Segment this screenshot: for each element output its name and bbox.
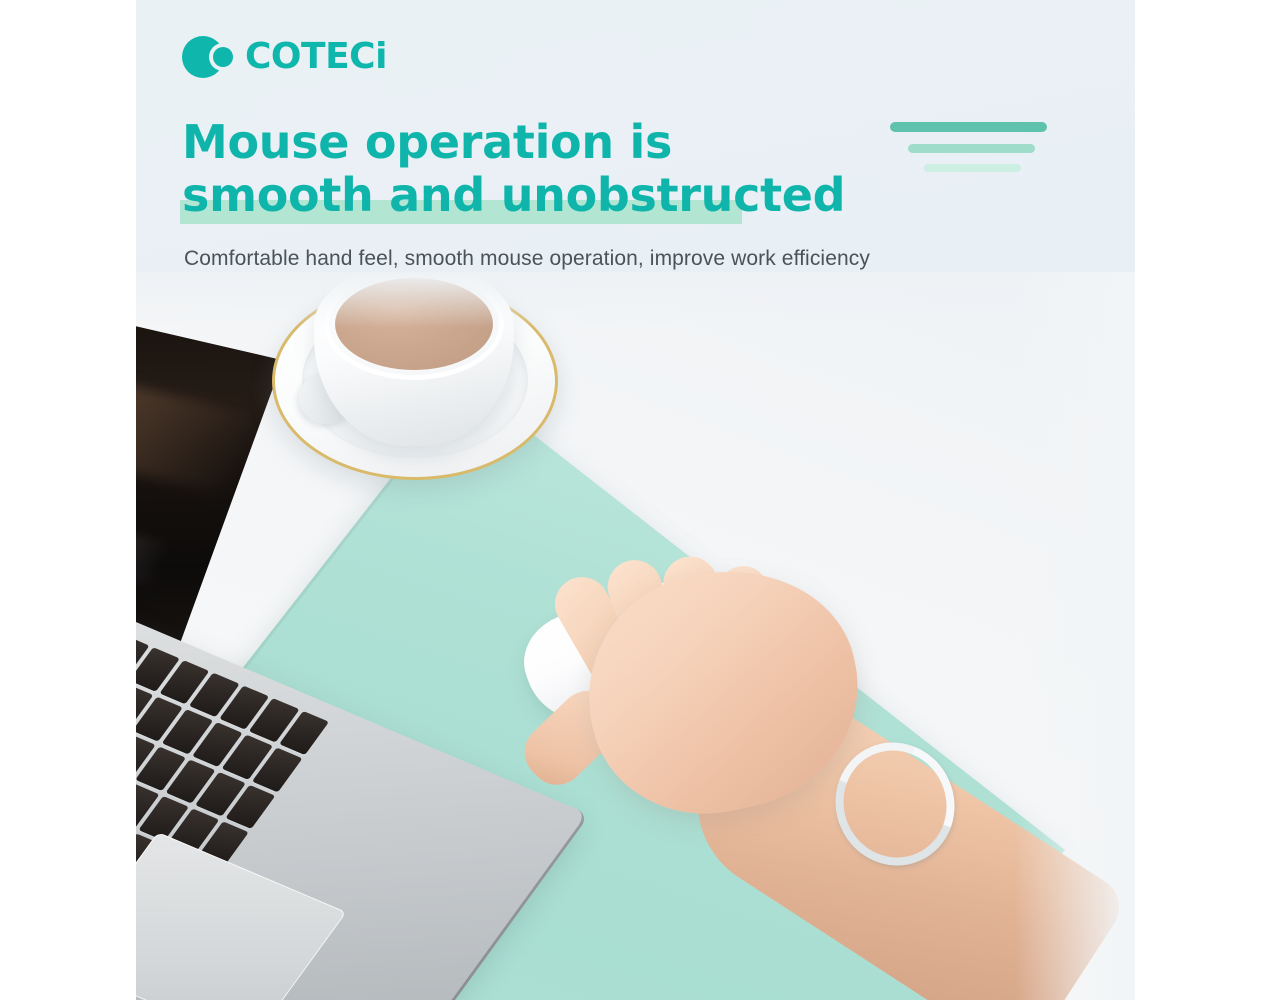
photo-blend-right: [1015, 272, 1135, 1000]
headline-block: Mouse operation is smooth and unobstruct…: [182, 116, 902, 222]
deco-bar-3: [924, 164, 1021, 172]
subtitle-text: Comfortable hand feel, smooth mouse oper…: [184, 244, 870, 274]
headline-line-2-text: smooth and unobstructed: [182, 168, 845, 222]
coteci-circle-mark-icon: [182, 34, 234, 80]
product-photo: [136, 272, 1135, 1000]
photo-blend-top: [136, 272, 1135, 328]
deco-bar-1: [890, 122, 1047, 132]
deco-bar-2: [908, 144, 1035, 153]
headline-line-1-text: Mouse operation is: [182, 115, 672, 169]
decorative-bars: [890, 122, 1060, 184]
brand-name: COTECi: [245, 39, 387, 75]
product-banner: COTECi Mouse operation is smooth and uno…: [0, 0, 1271, 1000]
logo-dot: [213, 47, 233, 67]
screen-glare: [136, 381, 253, 494]
headline-line-2: smooth and unobstructed: [182, 169, 902, 222]
content-panel: COTECi Mouse operation is smooth and uno…: [136, 0, 1135, 1000]
brand-logo[interactable]: COTECi: [182, 30, 512, 84]
headline-line-1: Mouse operation is: [182, 116, 902, 169]
screen-glare-secondary: [136, 517, 169, 586]
